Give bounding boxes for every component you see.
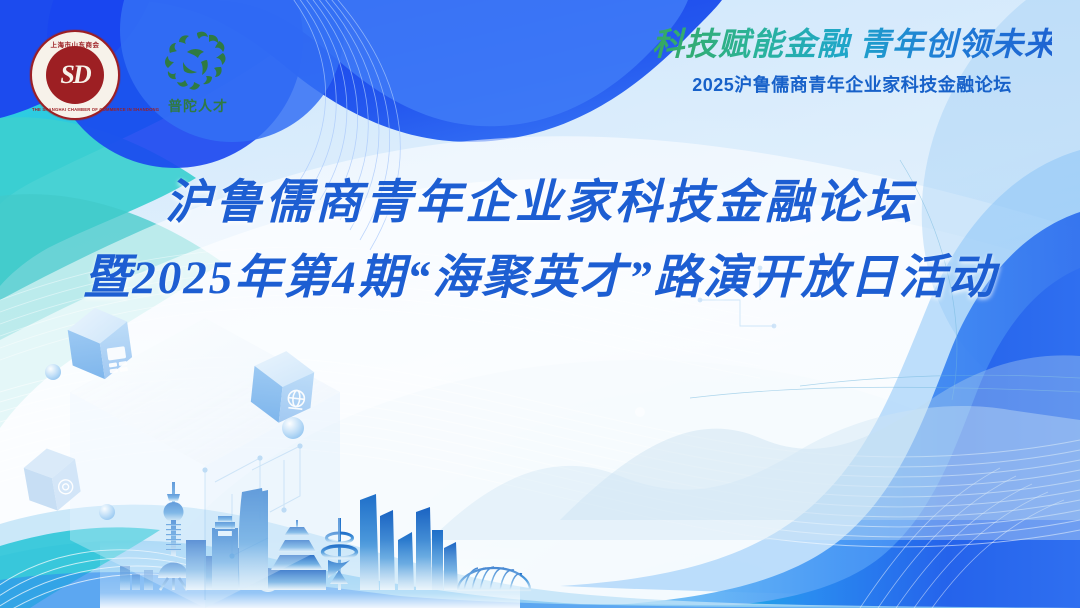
seal-monogram: SD — [46, 46, 104, 104]
logo-row: 上海市山东商会 SD THE SHANGHAI CHAMBER OF COMME… — [30, 30, 246, 120]
seal-arc-bottom-text: THE SHANGHAI CHAMBER OF COMMERCE IN SHAN… — [32, 107, 118, 112]
page-title: 沪鲁儒商青年企业家科技金融论坛 暨2025年第4期“海聚英才”路演开放日活动 — [0, 178, 1080, 304]
seal-arc-top-text: 上海市山东商会 — [32, 39, 118, 49]
title-line-2: 暨2025年第4期“海聚英才”路演开放日活动 — [0, 253, 1080, 304]
slogan-block: 科技赋能金融 青年创领未来 2025沪鲁儒商青年企业家科技金融论坛 — [652, 26, 1052, 97]
putuo-talent-logo: 普陀人才 — [150, 30, 246, 116]
putuo-talent-logo-icon — [163, 30, 233, 92]
putuo-talent-label: 普陀人才 — [168, 96, 228, 116]
slogan-calligraphy: 科技赋能金融 青年创领未来 — [652, 26, 1052, 63]
poster-canvas: 上海市山东商会 SD THE SHANGHAI CHAMBER OF COMME… — [0, 0, 1080, 608]
chamber-of-commerce-seal-icon: 上海市山东商会 SD THE SHANGHAI CHAMBER OF COMME… — [30, 30, 120, 120]
slogan-subtitle: 2025沪鲁儒商青年企业家科技金融论坛 — [652, 71, 1052, 97]
title-line-1: 沪鲁儒商青年企业家科技金融论坛 — [0, 178, 1080, 229]
